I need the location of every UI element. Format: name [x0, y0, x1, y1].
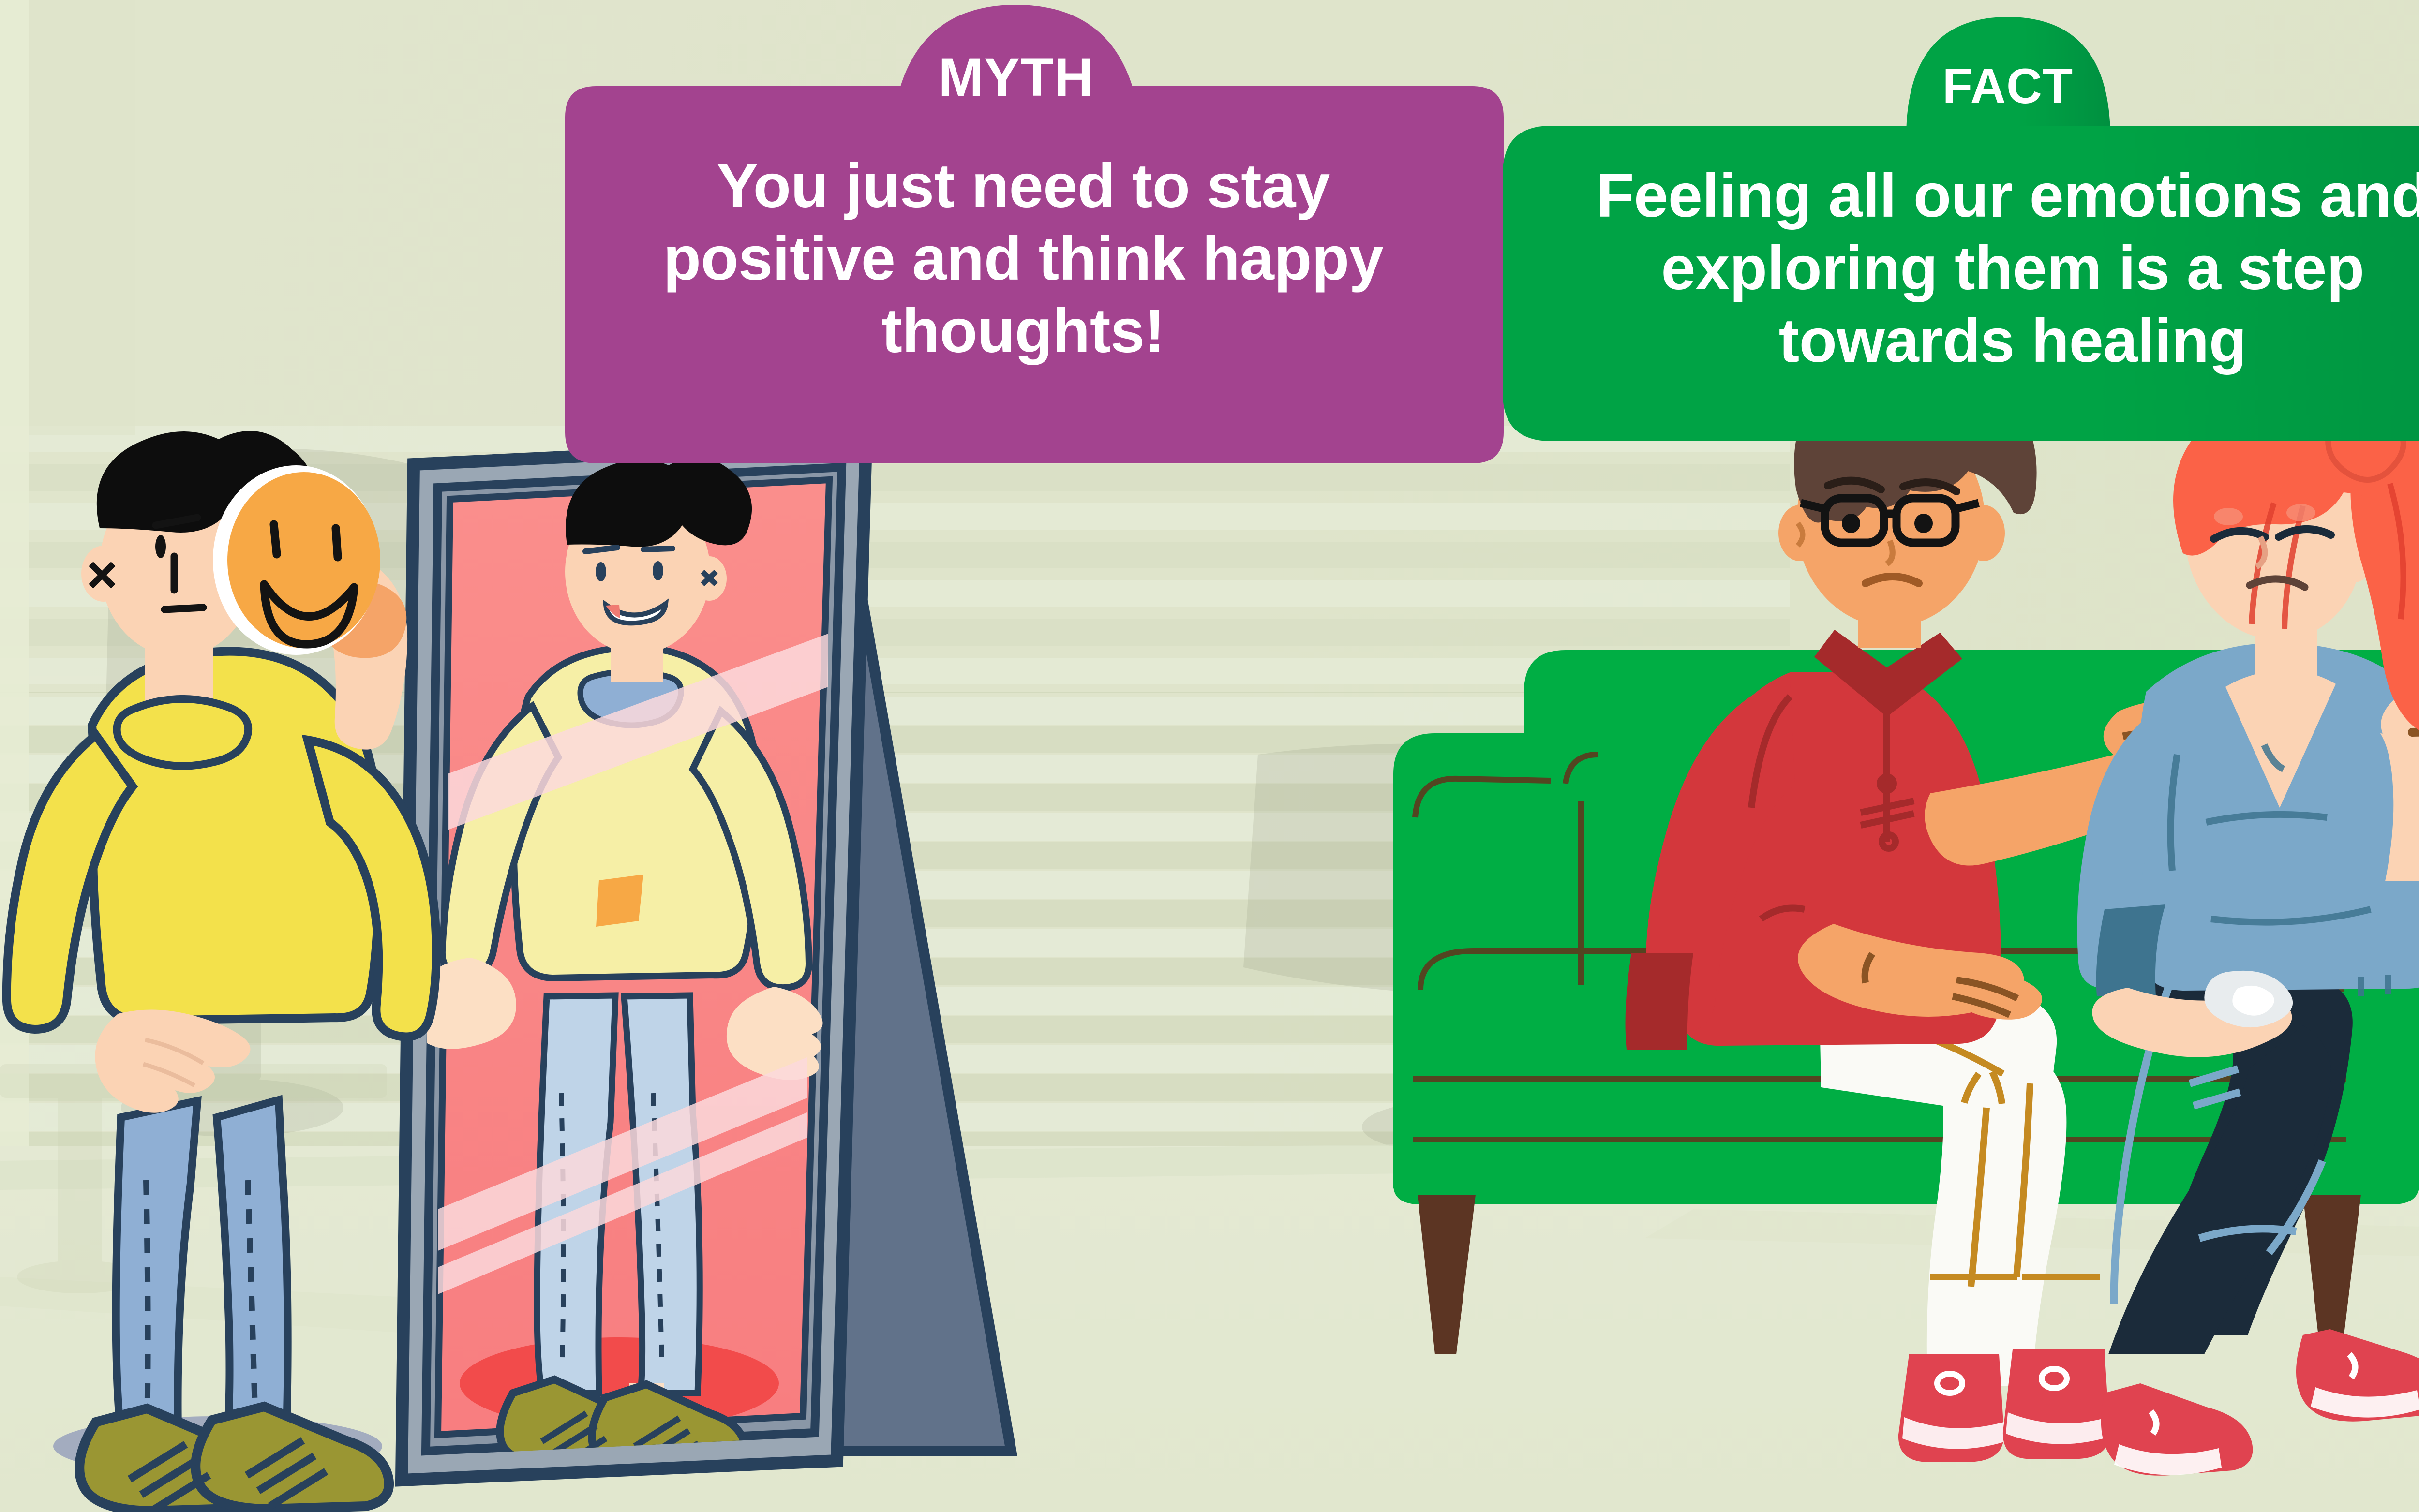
myth-body-text: You just need to stay positive and think… [561, 150, 1485, 367]
fact-cap-label: FACT [1887, 58, 2129, 115]
myth-vs-fact-illustration: MYTH You just need to stay positive and … [0, 0, 2419, 1512]
fact-body-text: Feeling all our emotions and exploring t… [1529, 160, 2419, 377]
myth-cap-label: MYTH [851, 46, 1180, 108]
